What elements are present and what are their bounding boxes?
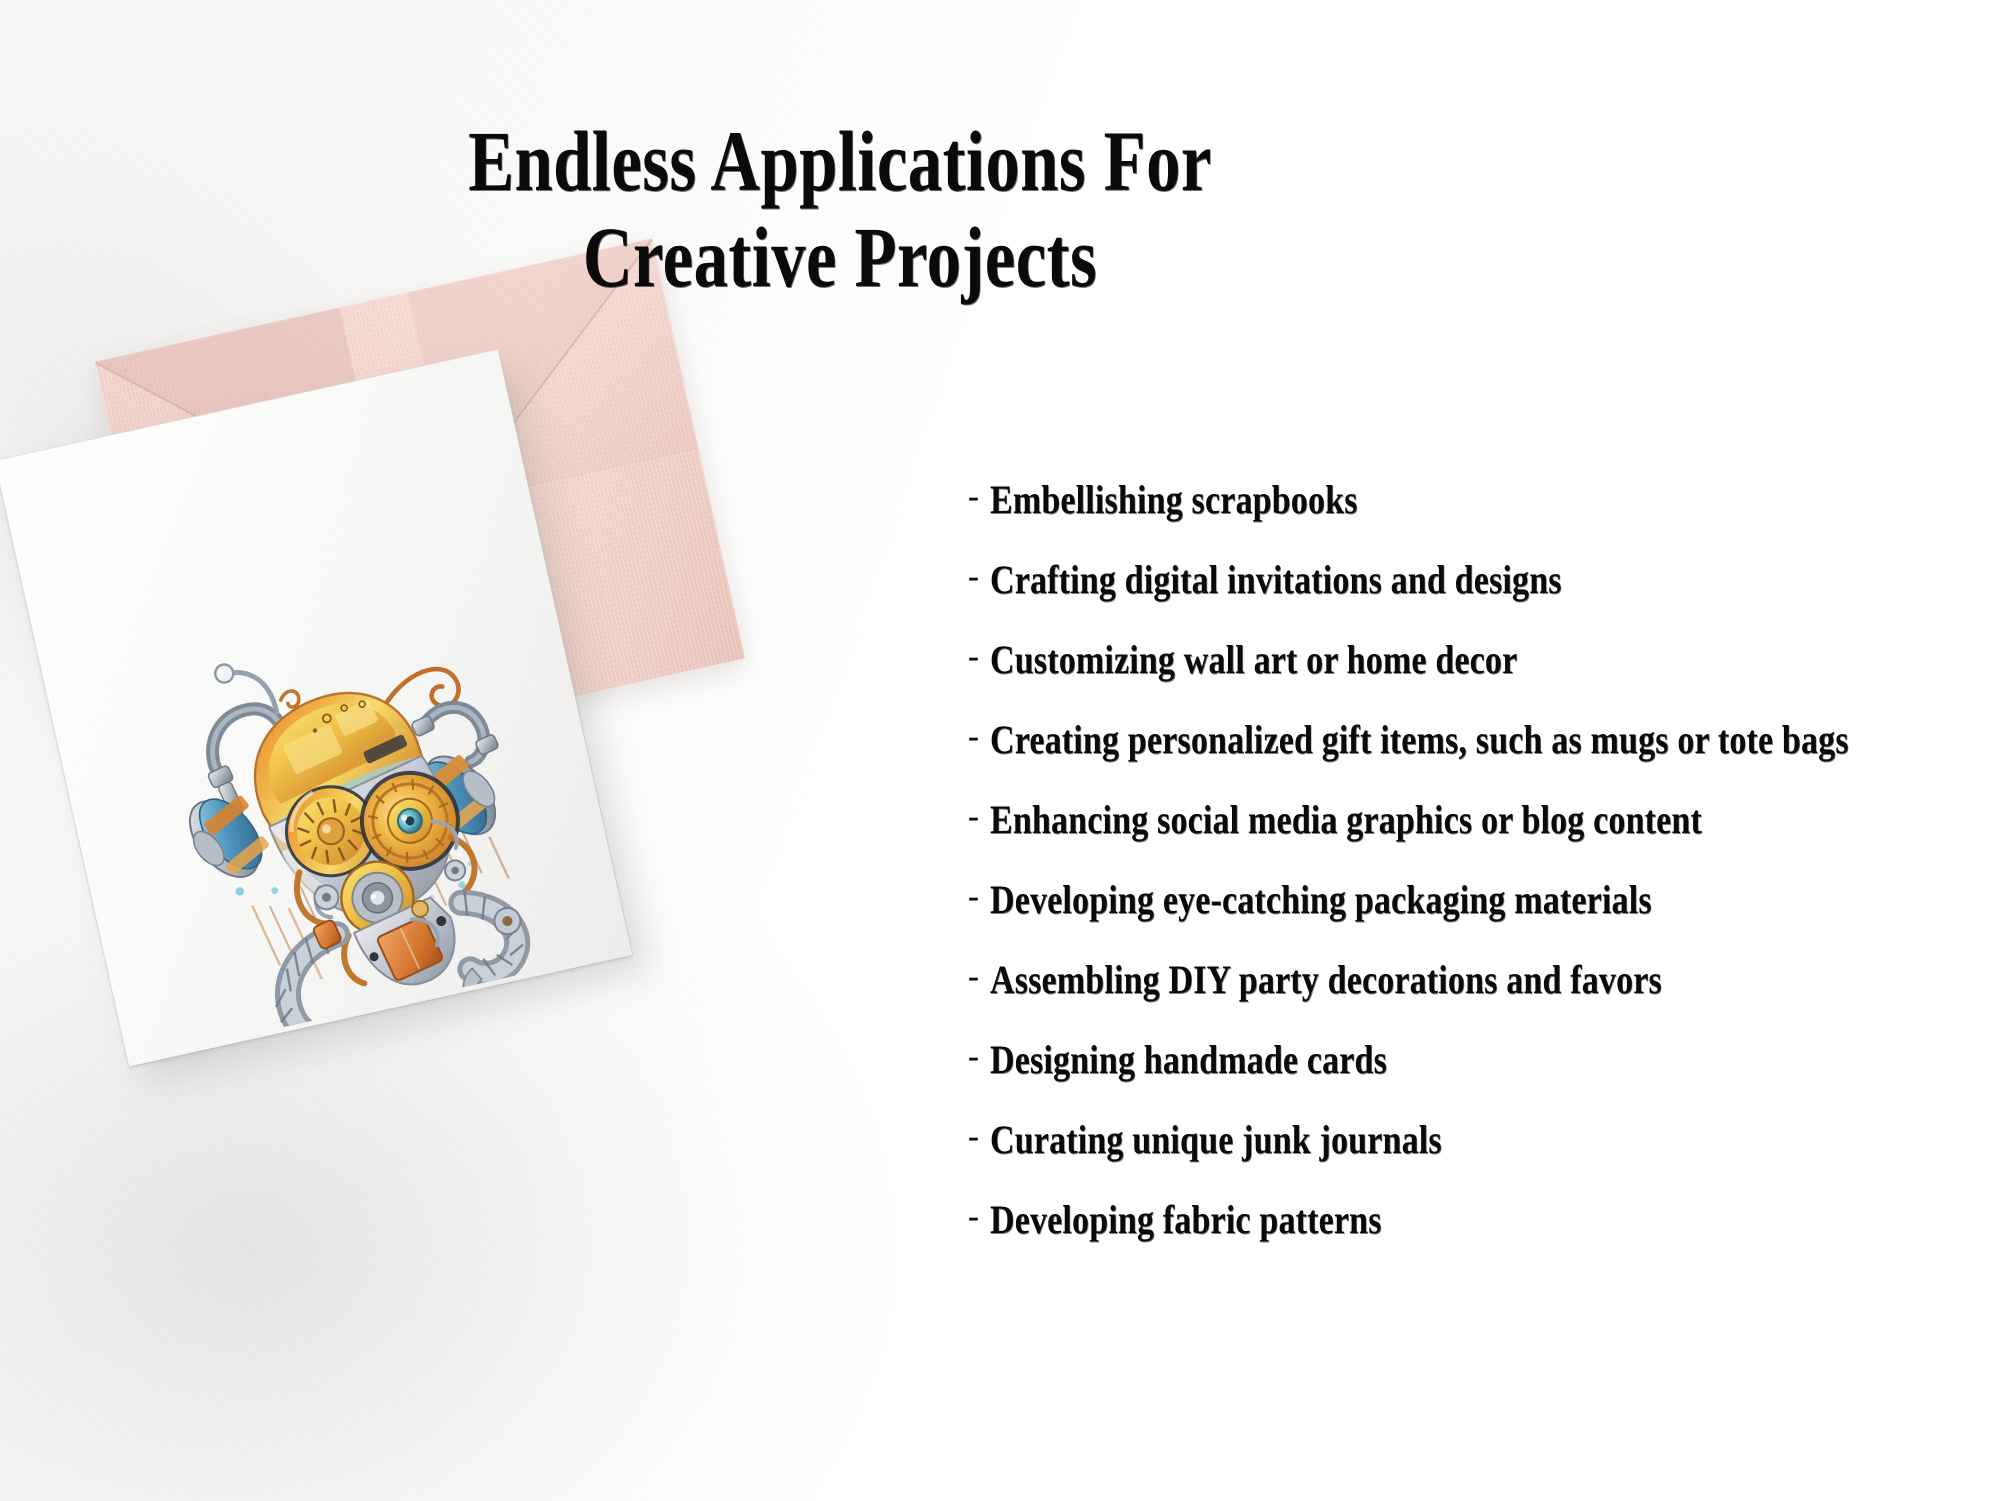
list-item-label: Customizing wall art or home decor xyxy=(990,640,1517,680)
bullet-dash-icon: - xyxy=(968,1041,979,1074)
list-item-label: Curating unique junk journals xyxy=(990,1120,1442,1160)
title-line-1: Endless Applications For xyxy=(384,118,1296,204)
poster-canvas: Endless Applications For Creative Projec… xyxy=(0,0,2000,1501)
bullet-dash-icon: - xyxy=(968,1201,979,1234)
bullet-dash-icon: - xyxy=(968,561,979,594)
list-item-label: Assembling DIY party decorations and fav… xyxy=(990,960,1662,1000)
bullet-dash-icon: - xyxy=(968,801,979,834)
list-item-label: Designing handmade cards xyxy=(990,1040,1387,1080)
list-item: - Developing fabric patterns xyxy=(968,1200,1998,1240)
list-item: - Enhancing social media graphics or blo… xyxy=(968,800,1998,840)
list-item-label: Enhancing social media graphics or blog … xyxy=(990,800,1702,840)
list-item: - Designing handmade cards xyxy=(968,1040,1998,1080)
robot-artwork-group xyxy=(125,573,590,1053)
list-item: - Customizing wall art or home decor xyxy=(968,640,1998,680)
bullet-dash-icon: - xyxy=(968,1121,979,1154)
bullet-dash-icon: - xyxy=(968,961,979,994)
page-title: Endless Applications For Creative Projec… xyxy=(270,118,1410,300)
list-item: - Crafting digital invitations and desig… xyxy=(968,560,1998,600)
list-item: - Developing eye-catching packaging mate… xyxy=(968,880,1998,920)
greeting-card-mockup xyxy=(0,250,800,1110)
list-item-label: Creating personalized gift items, such a… xyxy=(990,720,1849,760)
list-item-label: Embellishing scrapbooks xyxy=(990,480,1358,520)
title-line-2: Creative Projects xyxy=(384,214,1296,300)
list-item-label: Developing fabric patterns xyxy=(990,1200,1382,1240)
bullet-dash-icon: - xyxy=(968,721,979,754)
applications-list: - Embellishing scrapbooks - Crafting dig… xyxy=(968,480,1998,1240)
list-item: - Creating personalized gift items, such… xyxy=(968,720,1998,760)
list-item: - Assembling DIY party decorations and f… xyxy=(968,960,1998,1000)
list-item: - Embellishing scrapbooks xyxy=(968,480,1998,520)
list-item-label: Crafting digital invitations and designs xyxy=(990,560,1562,600)
bullet-dash-icon: - xyxy=(968,881,979,914)
bullet-dash-icon: - xyxy=(968,641,979,674)
list-item-label: Developing eye-catching packaging materi… xyxy=(990,880,1652,920)
list-item: - Curating unique junk journals xyxy=(968,1120,1998,1160)
bullet-dash-icon: - xyxy=(968,481,979,514)
